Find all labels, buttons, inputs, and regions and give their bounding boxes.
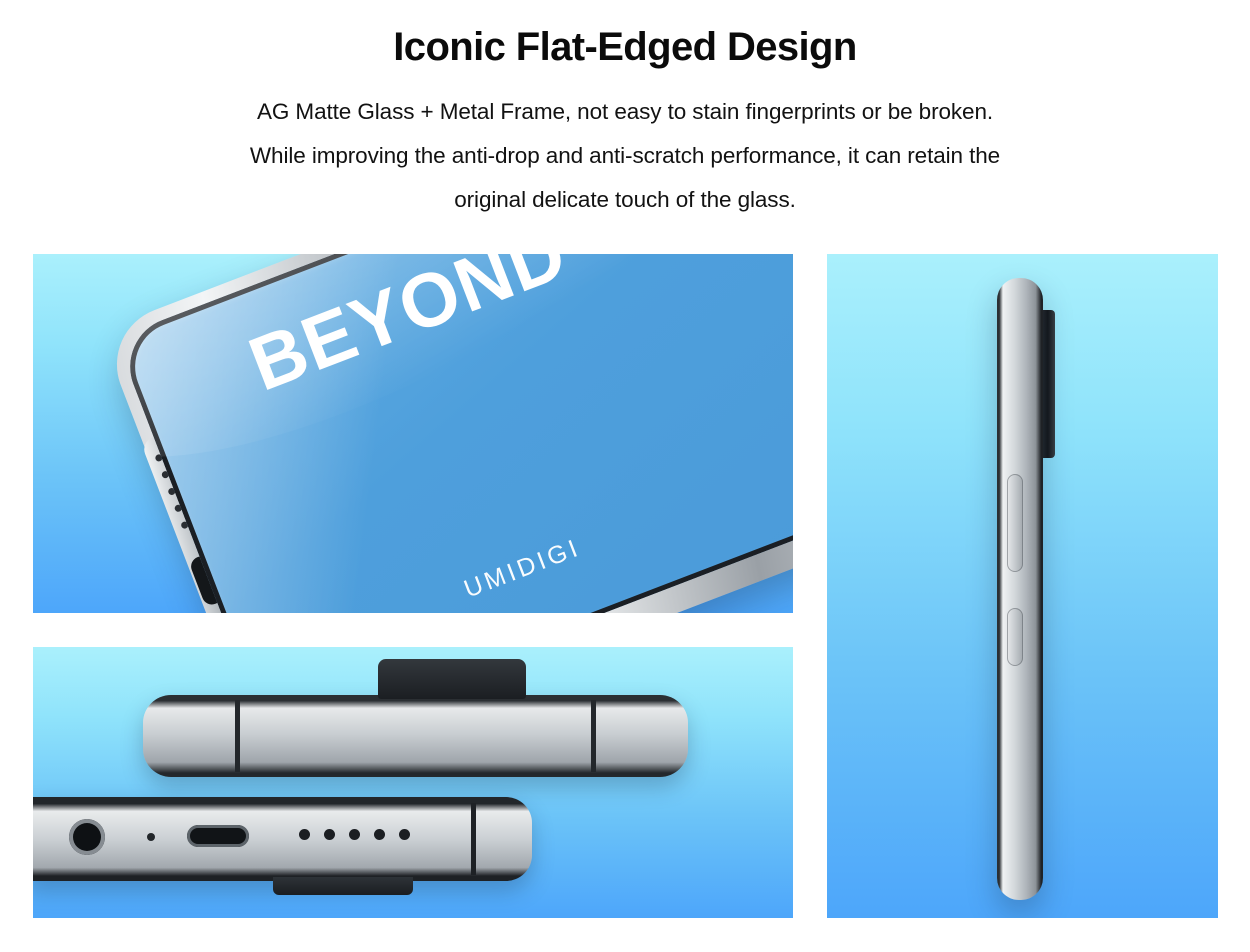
phone-side-view (969, 278, 1089, 900)
power-button (1007, 608, 1023, 666)
camera-bump-icon (378, 659, 526, 699)
antenna-band-right (591, 700, 596, 772)
phone-top-edge-view (143, 695, 688, 777)
product-image-edges (33, 647, 793, 918)
antenna-band-right (471, 803, 476, 875)
product-image-hero-angled: BEYOND UMIDIGI (33, 254, 793, 613)
antenna-band-left (235, 700, 240, 772)
headphone-jack-icon (69, 819, 105, 855)
volume-rocker-button (1007, 474, 1023, 572)
camera-bump-icon (273, 877, 413, 895)
description-line-3: original delicate touch of the glass. (0, 178, 1250, 222)
gallery-right-column (827, 254, 1218, 918)
phone-screen: BEYOND UMIDIGI (116, 254, 793, 613)
product-image-gallery: BEYOND UMIDIGI (33, 254, 1218, 918)
product-image-side-profile (827, 254, 1218, 918)
phone-metal-frame (997, 278, 1043, 900)
description-line-1: AG Matte Glass + Metal Frame, not easy t… (0, 90, 1250, 134)
product-feature-page: Iconic Flat-Edged Design AG Matte Glass … (0, 0, 1250, 952)
page-description: AG Matte Glass + Metal Frame, not easy t… (0, 90, 1250, 222)
page-title: Iconic Flat-Edged Design (0, 24, 1250, 71)
phone-angled-view: BEYOND UMIDIGI (100, 254, 793, 613)
description-line-2: While improving the anti-drop and anti-s… (0, 134, 1250, 178)
gallery-left-column: BEYOND UMIDIGI (33, 254, 793, 918)
microphone-icon (147, 833, 155, 841)
phone-bottom-edge-view (33, 797, 532, 881)
brand-logo-text: UMIDIGI (460, 533, 585, 604)
usb-c-port-icon (187, 825, 249, 847)
speaker-holes-icon (299, 829, 410, 840)
